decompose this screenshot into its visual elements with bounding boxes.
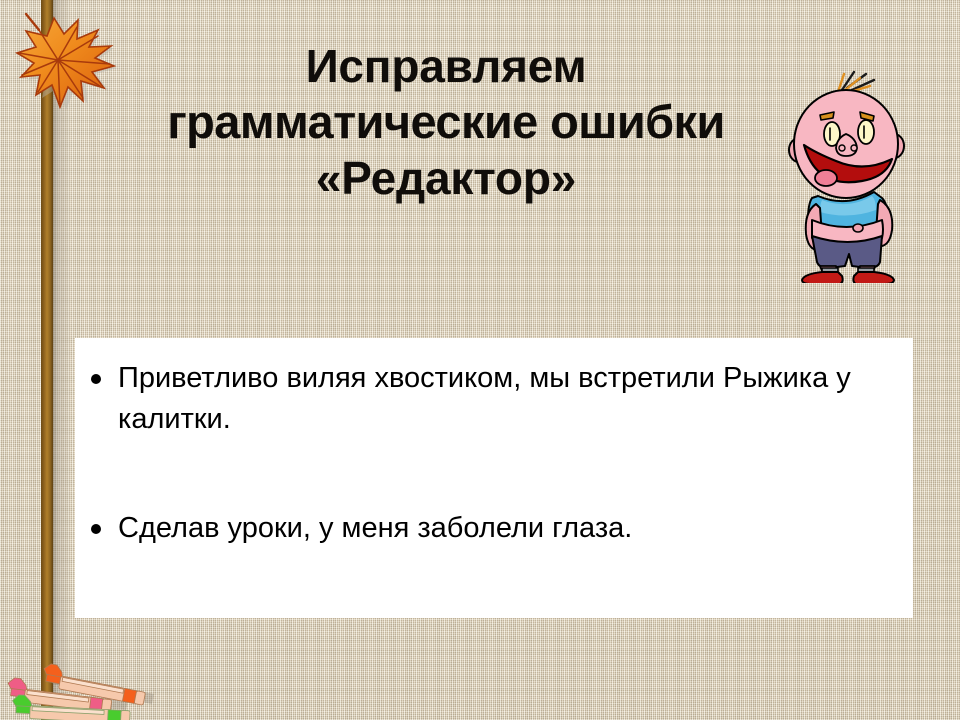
title-line-2: грамматические ошибки (46, 94, 846, 150)
bullet-list: Приветливо виляя хвостиком, мы встретили… (75, 358, 913, 549)
content-panel: Приветливо виляя хвостиком, мы встретили… (75, 338, 913, 618)
crayons-icon (2, 634, 182, 720)
title-line-1: Исправляем (46, 38, 846, 94)
bullet-item-2: Сделав уроки, у меня заболели глаза. (75, 508, 913, 549)
slide-title: Исправляем грамматические ошибки «Редакт… (46, 38, 846, 206)
title-line-3: «Редактор» (46, 150, 846, 206)
cartoon-boy-icon (782, 68, 912, 283)
bullet-item-1: Приветливо виляя хвостиком, мы встретили… (75, 358, 913, 440)
slide-canvas: Исправляем грамматические ошибки «Редакт… (0, 0, 960, 720)
